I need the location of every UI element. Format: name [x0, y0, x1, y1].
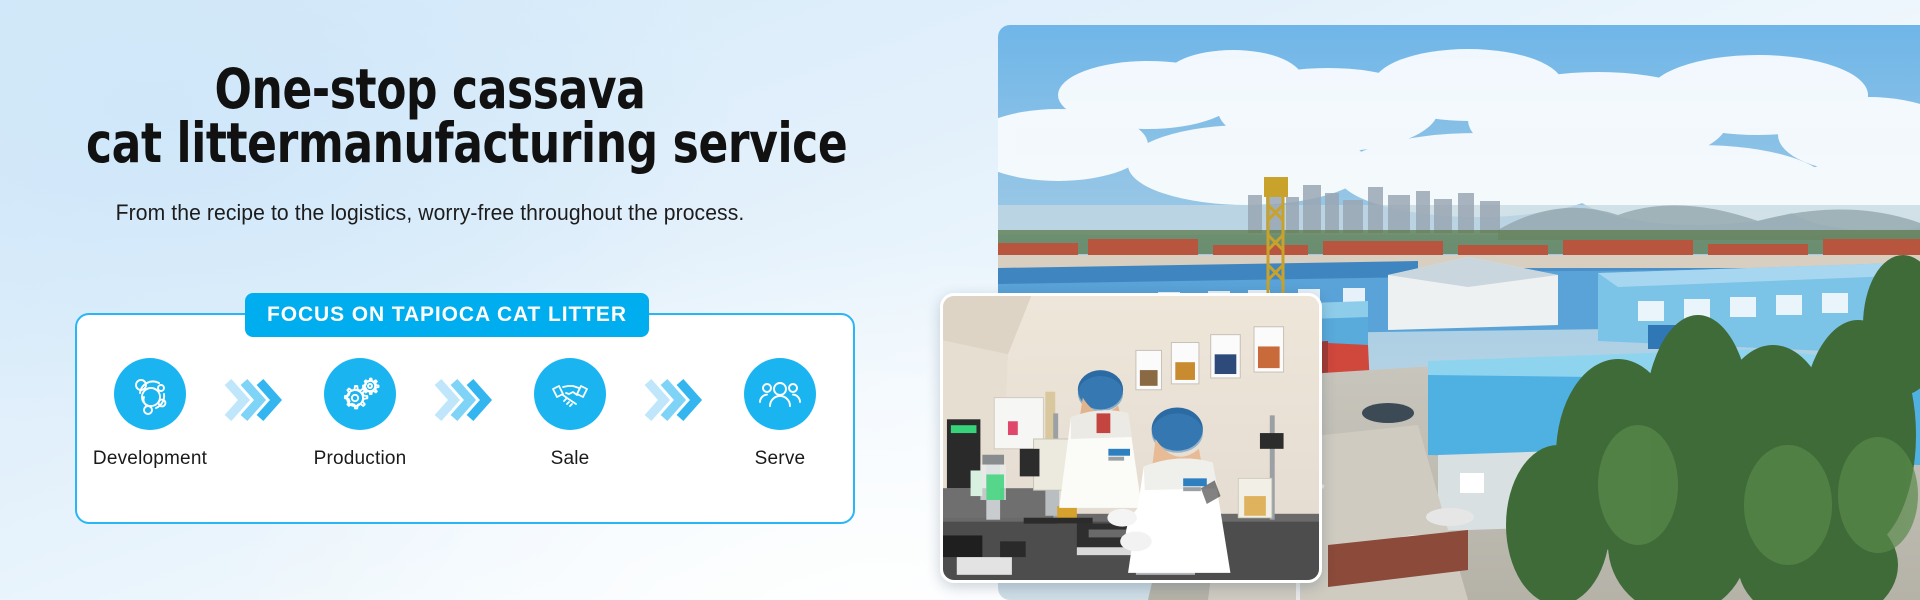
- process-step-sale: Sale: [514, 358, 626, 470]
- banner-left-content: One-stop cassava cat littermanufacturing…: [0, 0, 860, 600]
- process-step-label: Serve: [755, 448, 806, 470]
- process-step-production: Production: [304, 358, 416, 470]
- process-step-development: Development: [94, 358, 206, 470]
- gears-icon: [324, 358, 396, 430]
- page-title: One-stop cassava cat littermanufacturing…: [86, 62, 774, 170]
- headline-line-1: One-stop cassava: [86, 62, 774, 116]
- handshake-icon: [534, 358, 606, 430]
- laboratory-illustration: [943, 296, 1319, 580]
- process-step-serve: Serve: [724, 358, 836, 470]
- double-chevron-right-icon: [219, 376, 291, 424]
- headline-line-2: cat littermanufacturing service: [86, 116, 774, 170]
- laboratory-photo: [940, 293, 1322, 583]
- process-step-label: Development: [93, 448, 207, 470]
- process-step-label: Sale: [551, 448, 590, 470]
- people-icon: [744, 358, 816, 430]
- status-badge: FOCUS ON TAPIOCA CAT LITTER: [245, 293, 649, 337]
- double-chevron-right-icon: [639, 376, 711, 424]
- process-step-label: Production: [314, 448, 407, 470]
- double-chevron-right-icon: [429, 376, 501, 424]
- promo-banner: One-stop cassava cat littermanufacturing…: [0, 0, 1920, 600]
- subheadline: From the recipe to the logistics, worry-…: [17, 200, 843, 226]
- process-step-list: Development: [94, 358, 836, 498]
- molecule-icon: [114, 358, 186, 430]
